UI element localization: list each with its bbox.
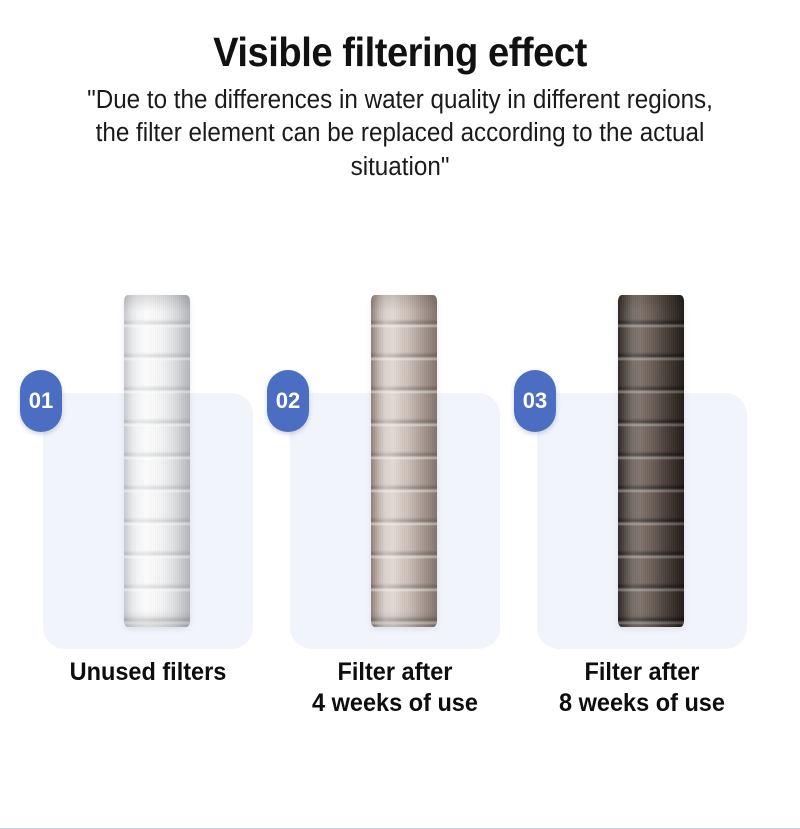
step-badge-1: 01 [20,370,62,432]
caption-line-2: 4 weeks of use [279,688,510,719]
comparison-item-2[interactable]: 02 Filter after 4 weeks of use [290,393,500,649]
product-comparison-page: Visible filtering effect "Due to the dif… [0,0,800,829]
filter-cartridge-clean-icon [124,295,190,627]
caption-line-2: 8 weeks of use [526,688,757,719]
comparison-caption-1: Unused filters [32,657,263,688]
step-badge-3: 03 [514,370,556,432]
page-title: Visible filtering effect [28,30,772,74]
filter-cartridge-moderate-icon [371,295,437,627]
caption-line-1: Filter after [279,657,510,688]
comparison-item-3[interactable]: 03 Filter after 8 weeks of use [537,393,747,649]
caption-line-1: Unused filters [32,657,263,688]
comparison-item-1[interactable]: 01 Unused filters [43,393,253,649]
filter-comparison-row: 01 Unused filters 02 Filter after 4 week… [0,393,800,653]
header: Visible filtering effect "Due to the dif… [0,0,800,184]
filter-end-shading [124,295,190,627]
filter-cartridge-soiled-icon [618,295,684,627]
caption-line-1: Filter after [526,657,757,688]
comparison-caption-3: Filter after 8 weeks of use [526,657,757,718]
filter-end-shading [371,295,437,627]
step-badge-2: 02 [267,370,309,432]
comparison-caption-2: Filter after 4 weeks of use [279,657,510,718]
page-subtitle: "Due to the differences in water quality… [72,84,728,183]
filter-end-shading [618,295,684,627]
